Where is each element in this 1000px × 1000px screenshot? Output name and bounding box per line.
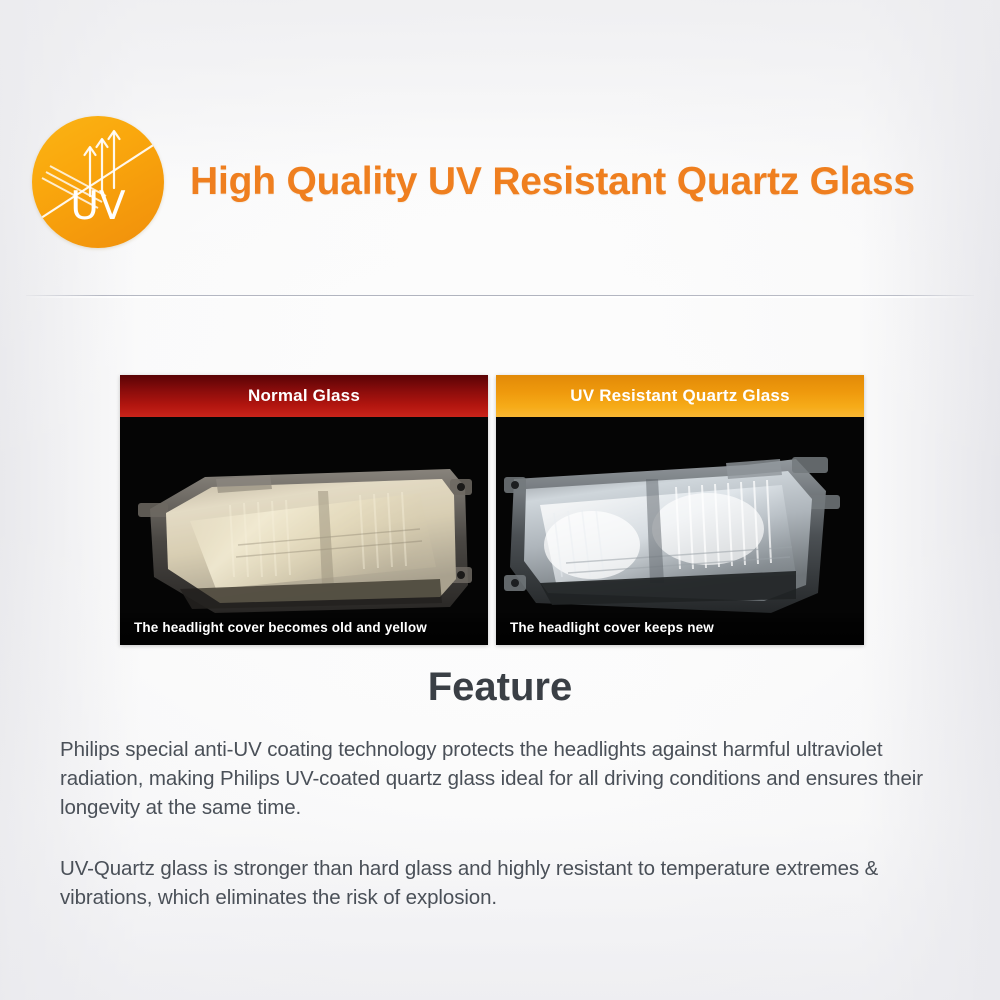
header-banner: UV High Quality UV Resistant Quartz Glas… bbox=[0, 112, 1000, 252]
panel-caption-uv-quartz-glass: The headlight cover keeps new bbox=[496, 611, 864, 645]
panel-header-uv-quartz-glass: UV Resistant Quartz Glass bbox=[496, 375, 864, 417]
feature-body: Philips special anti-UV coating technolo… bbox=[60, 735, 955, 912]
uv-badge-label: UV bbox=[32, 187, 164, 226]
comparison-panel-uv-quartz-glass: UV Resistant Quartz Glass bbox=[496, 375, 864, 645]
panel-header-normal-glass: Normal Glass bbox=[120, 375, 488, 417]
feature-heading: Feature bbox=[0, 665, 1000, 710]
feature-paragraph-1: Philips special anti-UV coating technolo… bbox=[60, 735, 955, 822]
comparison-panel-normal-glass: Normal Glass bbox=[120, 375, 488, 645]
panel-caption-normal-glass: The headlight cover becomes old and yell… bbox=[120, 611, 488, 645]
uv-badge: UV bbox=[32, 116, 164, 248]
header-divider-highlight bbox=[26, 296, 974, 298]
promo-page: UV High Quality UV Resistant Quartz Glas… bbox=[0, 0, 1000, 1000]
feature-paragraph-2: UV-Quartz glass is stronger than hard gl… bbox=[60, 854, 955, 912]
comparison-section: Normal Glass bbox=[120, 375, 865, 645]
page-title: High Quality UV Resistant Quartz Glass bbox=[190, 160, 915, 204]
